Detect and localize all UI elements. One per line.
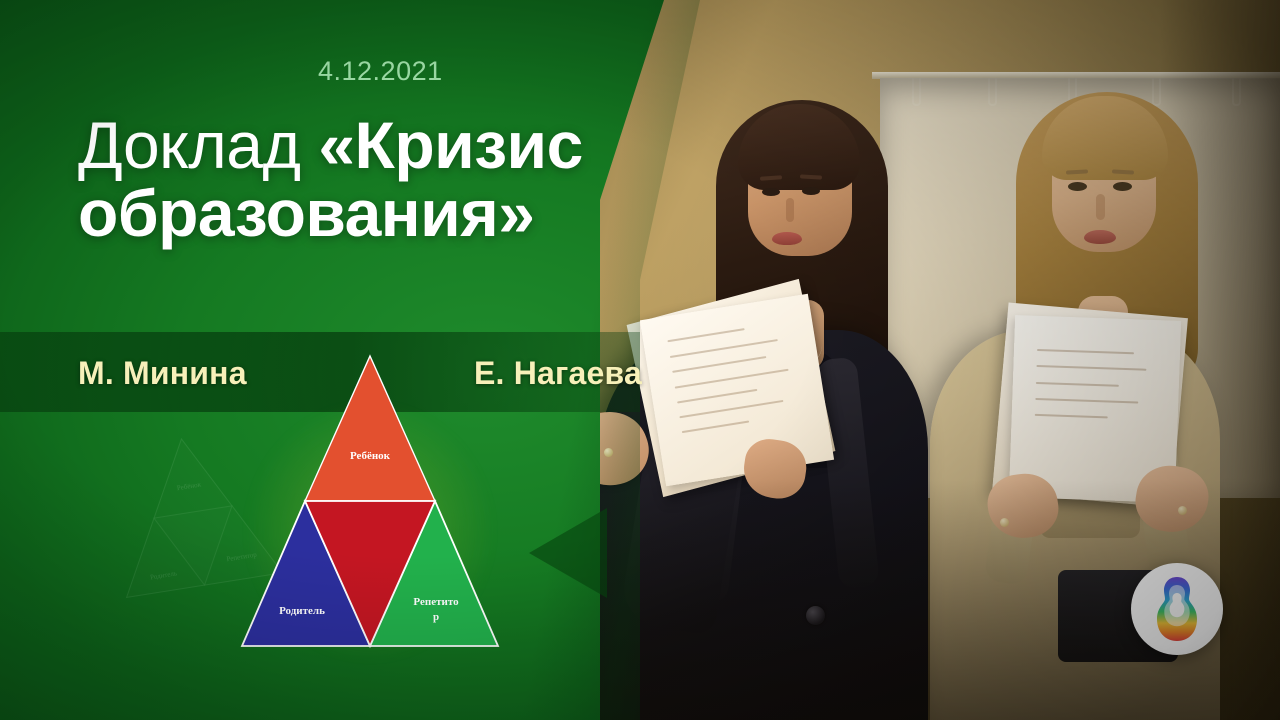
- ring-icon: [604, 448, 613, 457]
- decorative-triangle-icon: [529, 508, 607, 598]
- title-quote-line2: образования»: [78, 176, 534, 250]
- date-label: 4.12.2021: [318, 56, 443, 87]
- page-title: Доклад «Кризис образования»: [78, 112, 678, 248]
- handout-text-lines: [640, 294, 834, 487]
- triangle-label-tutor-line2: р: [433, 611, 439, 623]
- triangle-label-child: Ребёнок: [350, 450, 391, 462]
- speaker-left-handout: [640, 294, 834, 487]
- education-triangle-diagram: Ребёнок Родитель Репетито р: [240, 352, 500, 650]
- speaker-left-eye-right: [802, 187, 820, 195]
- speaker-right-nose: [1096, 194, 1105, 220]
- thumbnail-canvas: Ребёнок Родитель Репетитор Ребёнок Родит…: [0, 0, 1280, 720]
- speaker-names: М. Минина Е. Нагаева: [78, 355, 642, 392]
- title-prefix: Доклад: [78, 108, 318, 182]
- speaker-name-2: Е. Нагаева: [474, 355, 642, 392]
- triangle-label-parent: Родитель: [279, 605, 325, 617]
- speaker-right-eye-left: [1068, 182, 1087, 191]
- matryoshka-icon: [1145, 575, 1209, 643]
- triangle-label-tutor-line1: Репетито: [413, 596, 459, 608]
- speaker-right-mouth: [1084, 230, 1116, 244]
- speaker-left-nose: [786, 198, 794, 222]
- title-quote-line1: «Кризис: [318, 108, 582, 182]
- speaker-left-eye-left: [762, 188, 780, 196]
- speaker-right-eye-right: [1113, 182, 1132, 191]
- speaker-left-mouth: [772, 232, 802, 245]
- channel-logo[interactable]: [1131, 563, 1223, 655]
- speaker-name-1: М. Минина: [78, 355, 247, 392]
